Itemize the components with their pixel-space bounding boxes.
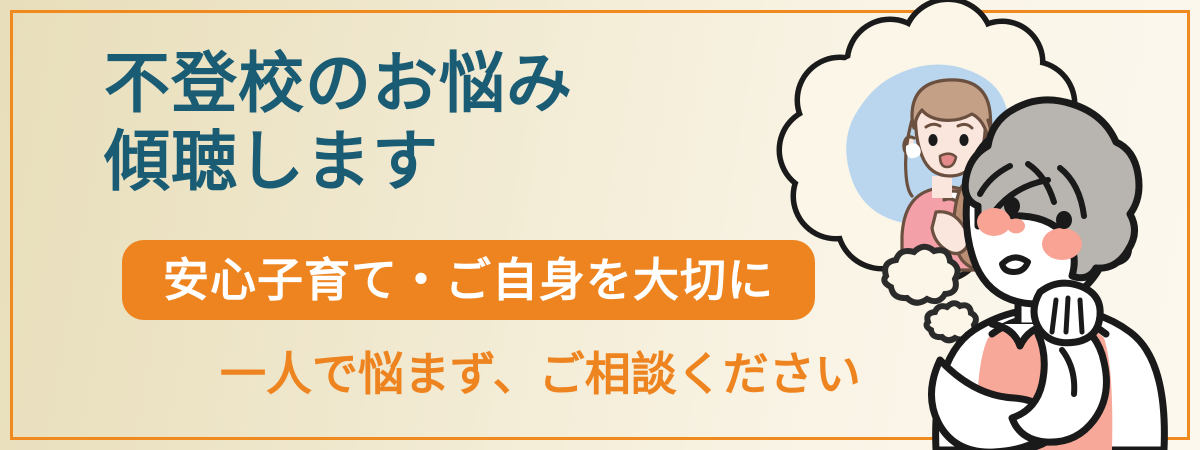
blush-nose: [1007, 219, 1025, 234]
illustration: [740, 0, 1200, 450]
blush-left: [977, 208, 1011, 236]
status-badge: 安心子育て・ご自身を大切に: [122, 240, 815, 320]
headline-line-2: 傾聴します: [104, 122, 573, 200]
page-title: 不登校のお悩み 傾聴します: [104, 44, 573, 200]
badge-label: 安心子育て・ご自身を大切に: [163, 257, 774, 303]
blush-right: [1042, 228, 1082, 260]
headline-line-1: 不登校のお悩み: [104, 44, 573, 122]
promo-banner: 不登校のお悩み 傾聴します 安心子育て・ご自身を大切に 一人で悩まず、ご相談くだ…: [0, 0, 1200, 450]
